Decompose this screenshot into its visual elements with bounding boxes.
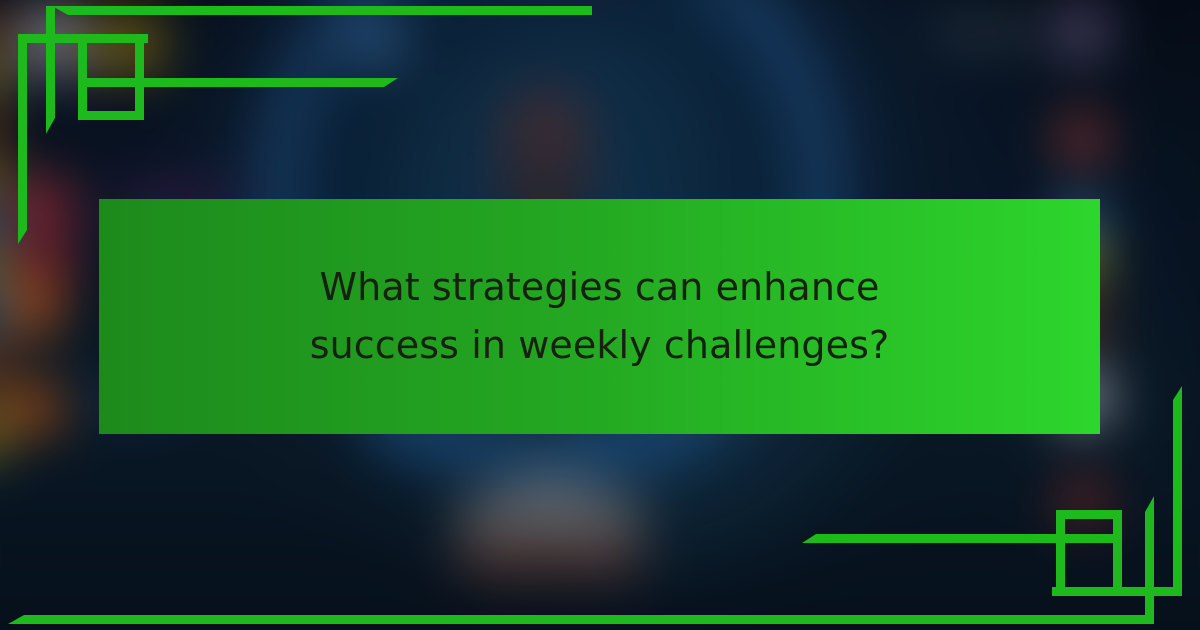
question-banner-title: What strategies can enhance success in w… [250, 259, 950, 375]
bottom-right-vertical-bar-outer [1173, 386, 1182, 596]
background-panel-d [12, 276, 56, 336]
background-right-text-line-1 [930, 20, 1038, 29]
bottom-right-vertical-bar-inner [1145, 496, 1154, 624]
background-ring-glint [348, 14, 406, 72]
background-right-text-line-2 [944, 38, 1038, 46]
background-panel-e [6, 380, 62, 436]
background-right-icon-1 [1058, 6, 1106, 58]
bottom-right-square-accent [1056, 510, 1122, 596]
question-banner: What strategies can enhance success in w… [99, 199, 1100, 434]
background-right-icon-2 [1060, 116, 1104, 162]
screenshot-canvas: What strategies can enhance success in w… [0, 0, 1200, 630]
background-right-icon-rail [1196, 0, 1200, 480]
background-podium [460, 500, 640, 580]
background-podium-top [505, 472, 597, 502]
bottom-right-horizontal-bar-outer [8, 615, 1148, 624]
top-left-square-accent [78, 34, 144, 120]
top-left-vertical-bar-inner [46, 6, 55, 134]
top-left-horizontal-bar-outer [52, 6, 592, 15]
top-left-vertical-bar-outer [18, 34, 27, 244]
background-left-icon-rail [0, 0, 4, 468]
